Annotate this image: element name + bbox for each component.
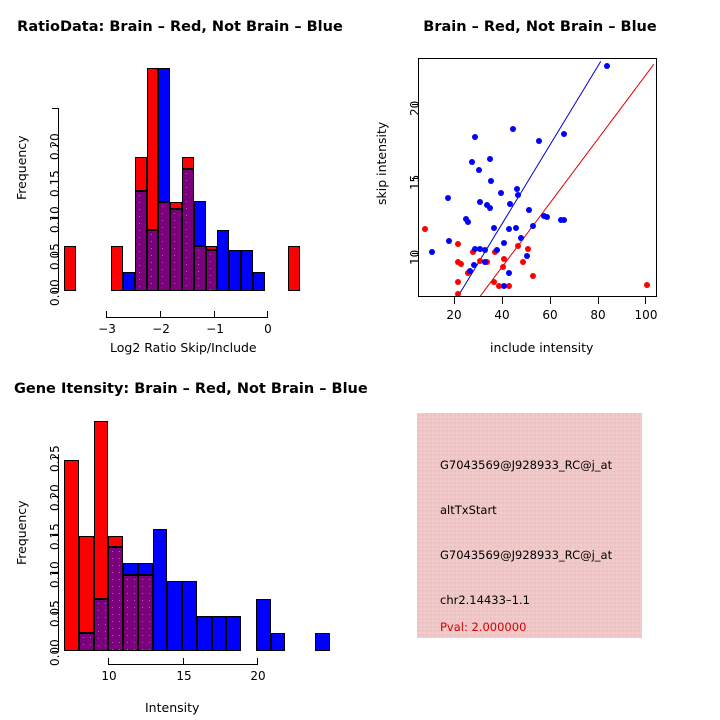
histogram-bar [206,246,218,250]
gene-xtick-label-10: 10 [94,669,124,683]
ratio-histogram-xaxis [106,317,268,318]
histogram-bar [194,246,206,291]
scatter-point [500,264,506,270]
scatter-point [561,217,567,223]
histogram-bar [170,209,182,291]
scatter-point [604,63,610,69]
xtick [106,311,107,318]
scatter-xtick-label-40: 40 [487,308,517,322]
histogram-bar [147,68,159,230]
scatter-ytick-label-15: 15 [408,175,422,190]
scatter-xtick-label-100: 100 [630,308,662,322]
scatter-point [422,226,428,232]
ytick [52,108,58,109]
ratio-ytick-label-1: 0.05 [48,243,62,270]
scatter-point [446,238,452,244]
scatter-xlabel: include intensity [490,340,593,355]
scatter-point [476,167,482,173]
xtick [502,297,503,304]
ratio-histogram-panel: RatioData: Brain – Red, Not Brain – Blue… [0,0,360,360]
scatter-point [506,270,512,276]
histogram-bar [94,421,109,599]
histogram-bar [288,246,300,291]
scatter-point [544,214,550,220]
ratio-histogram-ylabel: Frequency [14,135,29,200]
gene-ytick-label-3: 0.15 [48,523,62,550]
histogram-bar [138,575,153,651]
histogram-bar [153,529,168,651]
scatter-point [487,205,493,211]
ratio-ytick-label-4: 0.20 [48,133,62,160]
histogram-bar [226,616,241,651]
gene-info-probe-id-2: G7043569@J928933_RC@j_at [440,548,612,562]
scatter-point [515,243,521,249]
histogram-bar [135,191,147,291]
xtick [160,311,161,318]
gene-histogram-title: Gene Itensity: Brain – Red, Not Brain – … [14,381,368,397]
scatter-point [487,156,493,162]
ratio-xtick-label-0: −3 [92,322,122,336]
histogram-bar [182,581,197,651]
histogram-bar [64,246,76,291]
histogram-bar [123,575,138,651]
scatter-point [455,279,461,285]
histogram-bar [253,272,265,291]
scatter-point [455,241,461,247]
scatter-point [525,246,531,252]
histogram-bar [241,250,253,291]
histogram-bar [229,250,241,291]
xtick [645,297,646,304]
histogram-bar [182,157,194,169]
gene-info-pval: Pval: 2.000000 [440,620,526,634]
histogram-bar [167,581,182,651]
histogram-bar [158,202,170,291]
scatter-point [520,259,526,265]
scatter-point [518,235,524,241]
scatter-point [513,225,519,231]
scatter-point [536,138,542,144]
scatter-point [488,178,494,184]
gene-info-probe-id: G7043569@J928933_RC@j_at [440,458,612,472]
xtick [267,311,268,318]
scatter-point [507,201,513,207]
gene-histogram-panel: Gene Itensity: Brain – Red, Not Brain – … [0,360,360,720]
xtick [550,297,551,304]
histogram-bar [158,68,170,202]
histogram-bar [108,547,123,651]
histogram-bar [197,616,212,651]
histogram-bar [170,202,182,210]
xtick [183,658,184,665]
gene-histogram-ylabel: Frequency [14,500,29,565]
scatter-ytick-label-10: 10 [408,250,422,265]
gene-ytick-label-0: 0.00 [48,639,62,666]
histogram-bar [123,272,135,291]
scatter-point [465,219,471,225]
scatter-point [506,226,512,232]
histogram-bar [123,563,138,574]
gene-xtick-label-15: 15 [169,669,199,683]
scatter-point [445,195,451,201]
scatter-point [530,273,536,279]
ratio-xtick-label-2: −1 [200,322,230,336]
scatter-point [477,199,483,205]
histogram-bar [194,201,206,246]
scatter-point [501,240,507,246]
histogram-bar [182,169,194,291]
histogram-bar [94,599,109,651]
histogram-bar [212,616,227,651]
xtick [257,658,258,665]
scatter-point [524,253,530,259]
histogram-bar [256,599,271,651]
scatter-point [469,159,475,165]
gene-xtick-label-20: 20 [243,669,273,683]
scatter-point [429,249,435,255]
gene-ytick-label-4: 0.20 [48,484,62,511]
ratio-xtick-label-1: −2 [146,322,176,336]
scatter-point [455,291,461,297]
scatter-point [482,259,488,265]
regression-line [479,63,654,297]
scatter-point [472,134,478,140]
xtick [108,658,109,665]
scatter-point [494,247,500,253]
scatter-panel: Brain – Red, Not Brain – Blue skip inten… [360,0,720,360]
histogram-bar [79,536,94,633]
ratio-ytick-label-2: 0.10 [48,206,62,233]
scatter-point [458,261,464,267]
scatter-point [515,192,521,198]
scatter-point [526,207,532,213]
scatter-point [510,126,516,132]
scatter-point [498,190,504,196]
scatter-xtick-label-80: 80 [583,308,613,322]
histogram-bar [111,246,123,291]
histogram-bar [138,563,153,574]
histogram-bar [271,633,286,651]
xtick [454,297,455,304]
gene-info-event-type: altTxStart [440,503,497,517]
gene-histogram-xlabel: Intensity [145,700,199,715]
xtick [214,311,215,318]
gene-info-panel: G7043569@J928933_RC@j_at altTxStart G704… [360,360,720,720]
gene-info-locus: chr2.14433–1.1 [440,593,530,607]
ratio-histogram-title: RatioData: Brain – Red, Not Brain – Blue [0,19,360,35]
scatter-plot-area [418,58,657,297]
xtick [598,297,599,304]
scatter-point [561,131,567,137]
gene-ytick-label-2: 0.10 [48,561,62,588]
gene-ytick-label-5: 0.25 [48,445,62,472]
histogram-bar [147,230,159,291]
scatter-point [530,223,536,229]
histogram-bar [108,536,123,546]
ratio-histogram-xlabel: Log2 Ratio Skip/Include [110,340,257,355]
histogram-bar [217,230,229,291]
scatter-point [482,247,488,253]
scatter-title: Brain – Red, Not Brain – Blue [360,19,720,35]
scatter-xtick-label-20: 20 [439,308,469,322]
gene-ytick-label-1: 0.05 [48,600,62,627]
scatter-ytick-label-20: 20 [408,101,422,116]
ratio-ytick-label-3: 0.15 [48,170,62,197]
scatter-ylabel: skip intensity [374,122,389,205]
histogram-bar [64,460,79,651]
scatter-point [501,283,507,289]
ratio-xtick-label-3: 0 [253,322,283,336]
ratio-ytick-label-0: 0.00 [48,279,62,306]
scatter-point [501,256,507,262]
scatter-xtick-label-60: 60 [535,308,565,322]
histogram-bar [315,633,330,651]
histogram-bar [135,157,147,191]
histogram-bar [206,250,218,291]
histogram-bar [79,633,94,651]
scatter-point [644,282,650,288]
gene-info-box: G7043569@J928933_RC@j_at altTxStart G704… [417,413,642,638]
